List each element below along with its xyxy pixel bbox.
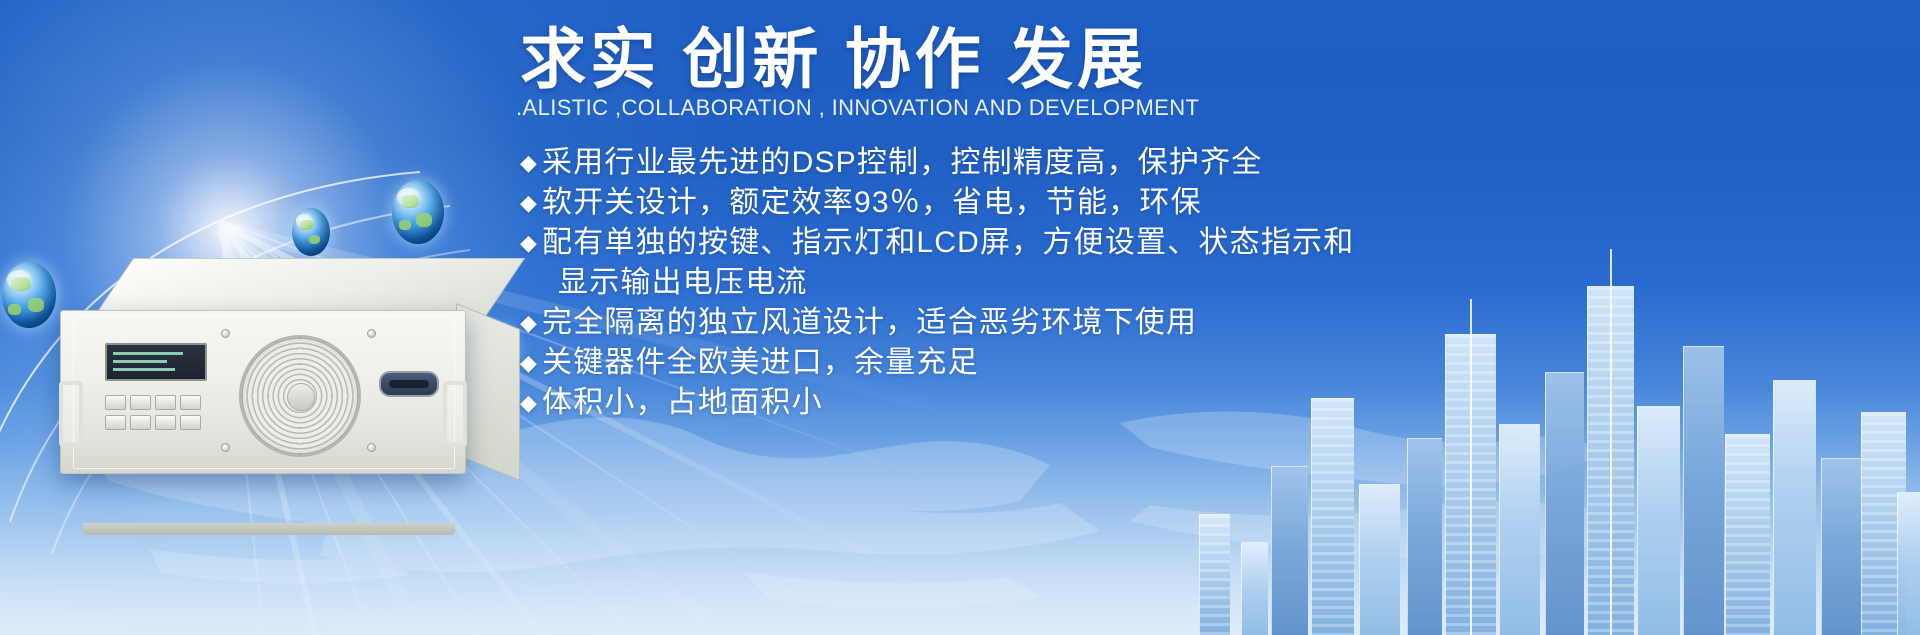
diamond-bullet-icon: ◆ — [520, 343, 542, 383]
promo-banner: 求实 创新 协作 发展 .ALISTIC ,COLLABORATION , IN… — [0, 0, 1920, 635]
feature-item: 显示输出电压电流 — [520, 263, 1480, 303]
diamond-bullet-icon: ◆ — [520, 143, 542, 183]
feature-text: 采用行业最先进的DSP控制，控制精度高，保护齐全 — [542, 143, 1262, 183]
diamond-bullet-icon: ◆ — [520, 383, 542, 423]
feature-text: 软开关设计，额定效率93％，省电，节能，环保 — [542, 183, 1202, 223]
diamond-bullet-icon: ◆ — [520, 183, 542, 223]
feature-item: ◆关键器件全欧美进口，余量充足 — [520, 343, 1480, 383]
feature-item: ◆软开关设计，额定效率93％，省电，节能，环保 — [520, 183, 1480, 223]
feature-text: 完全隔离的独立风道设计，适合恶劣环境下使用 — [542, 303, 1197, 343]
subtitle: .ALISTIC ,COLLABORATION , INNOVATION AND… — [516, 95, 1199, 121]
feature-text: 配有单独的按键、指示灯和LCD屏，方便设置、状态指示和 — [542, 223, 1354, 263]
diamond-bullet-icon: ◆ — [520, 223, 542, 263]
banner-text-block: 求实 创新 协作 发展 .ALISTIC ,COLLABORATION , IN… — [0, 0, 1920, 635]
feature-text: 显示输出电压电流 — [542, 263, 808, 303]
feature-item: ◆体积小，占地面积小 — [520, 383, 1480, 423]
feature-item: ◆采用行业最先进的DSP控制，控制精度高，保护齐全 — [520, 143, 1480, 183]
feature-item: ◆完全隔离的独立风道设计，适合恶劣环境下使用 — [520, 303, 1480, 343]
page-title: 求实 创新 协作 发展 — [520, 22, 1147, 96]
feature-text: 关键器件全欧美进口，余量充足 — [542, 343, 979, 383]
feature-item: ◆配有单独的按键、指示灯和LCD屏，方便设置、状态指示和 — [520, 223, 1480, 263]
feature-list: ◆采用行业最先进的DSP控制，控制精度高，保护齐全◆软开关设计，额定效率93％，… — [520, 143, 1480, 423]
diamond-bullet-icon: ◆ — [520, 303, 542, 343]
feature-text: 体积小，占地面积小 — [542, 383, 823, 423]
